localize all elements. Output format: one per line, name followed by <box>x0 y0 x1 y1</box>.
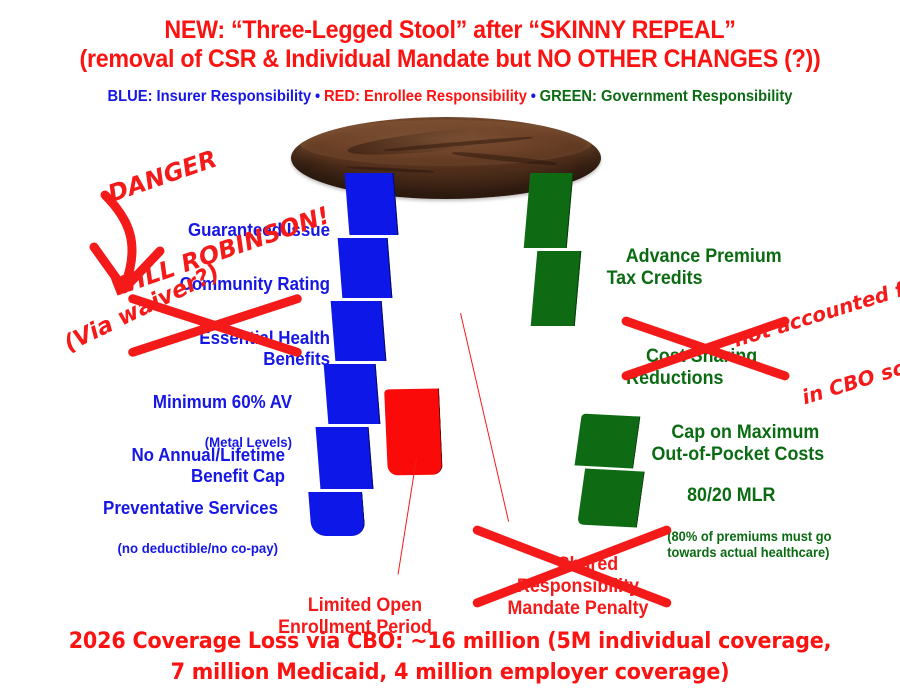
legend-red: RED: Enrollee Responsibility <box>324 88 527 105</box>
strikeout-x-shared-responsibility-mandate <box>466 525 678 607</box>
pointer-line-mandate <box>460 313 509 522</box>
insurer-item-preventative-services: Preventative Services (no deductible/no … <box>26 477 278 598</box>
annotation-cbo-line-1: not accounted for <box>731 270 900 353</box>
government-item-label: 80/20 MLR <box>687 485 775 506</box>
insurer-item-sublabel: (no deductible/no co-pay) <box>26 540 278 556</box>
pointer-line-enrollment <box>397 458 417 575</box>
footer-summary-line-1: 2026 Coverage Loss via CBO: ~16 million … <box>27 629 873 654</box>
legend-green: GREEN: Government Responsibility <box>540 88 793 105</box>
insurer-item-label: Preventative Services <box>103 498 278 518</box>
infographic-canvas: NEW: “Three-Legged Stool” after “SKINNY … <box>0 0 900 700</box>
government-item-sublabel: (80% of premiums must go towards actual … <box>667 529 831 561</box>
government-item-mlr: 80/20 MLR (80% of premiums must go towar… <box>667 463 831 605</box>
insurer-item-label: Minimum 60% AV <box>153 392 292 412</box>
page-title-line-2: (removal of CSR & Individual Mandate but… <box>32 45 869 74</box>
footer-summary-line-2: 7 million Medicaid, 4 million employer c… <box>27 660 873 685</box>
legend-separator-1: • <box>311 88 324 105</box>
legend-separator-2: • <box>527 88 540 105</box>
page-title-line-1: NEW: “Three-Legged Stool” after “SKINNY … <box>32 16 869 45</box>
annotation-cbo-line-2: in CBO score! <box>787 342 900 414</box>
